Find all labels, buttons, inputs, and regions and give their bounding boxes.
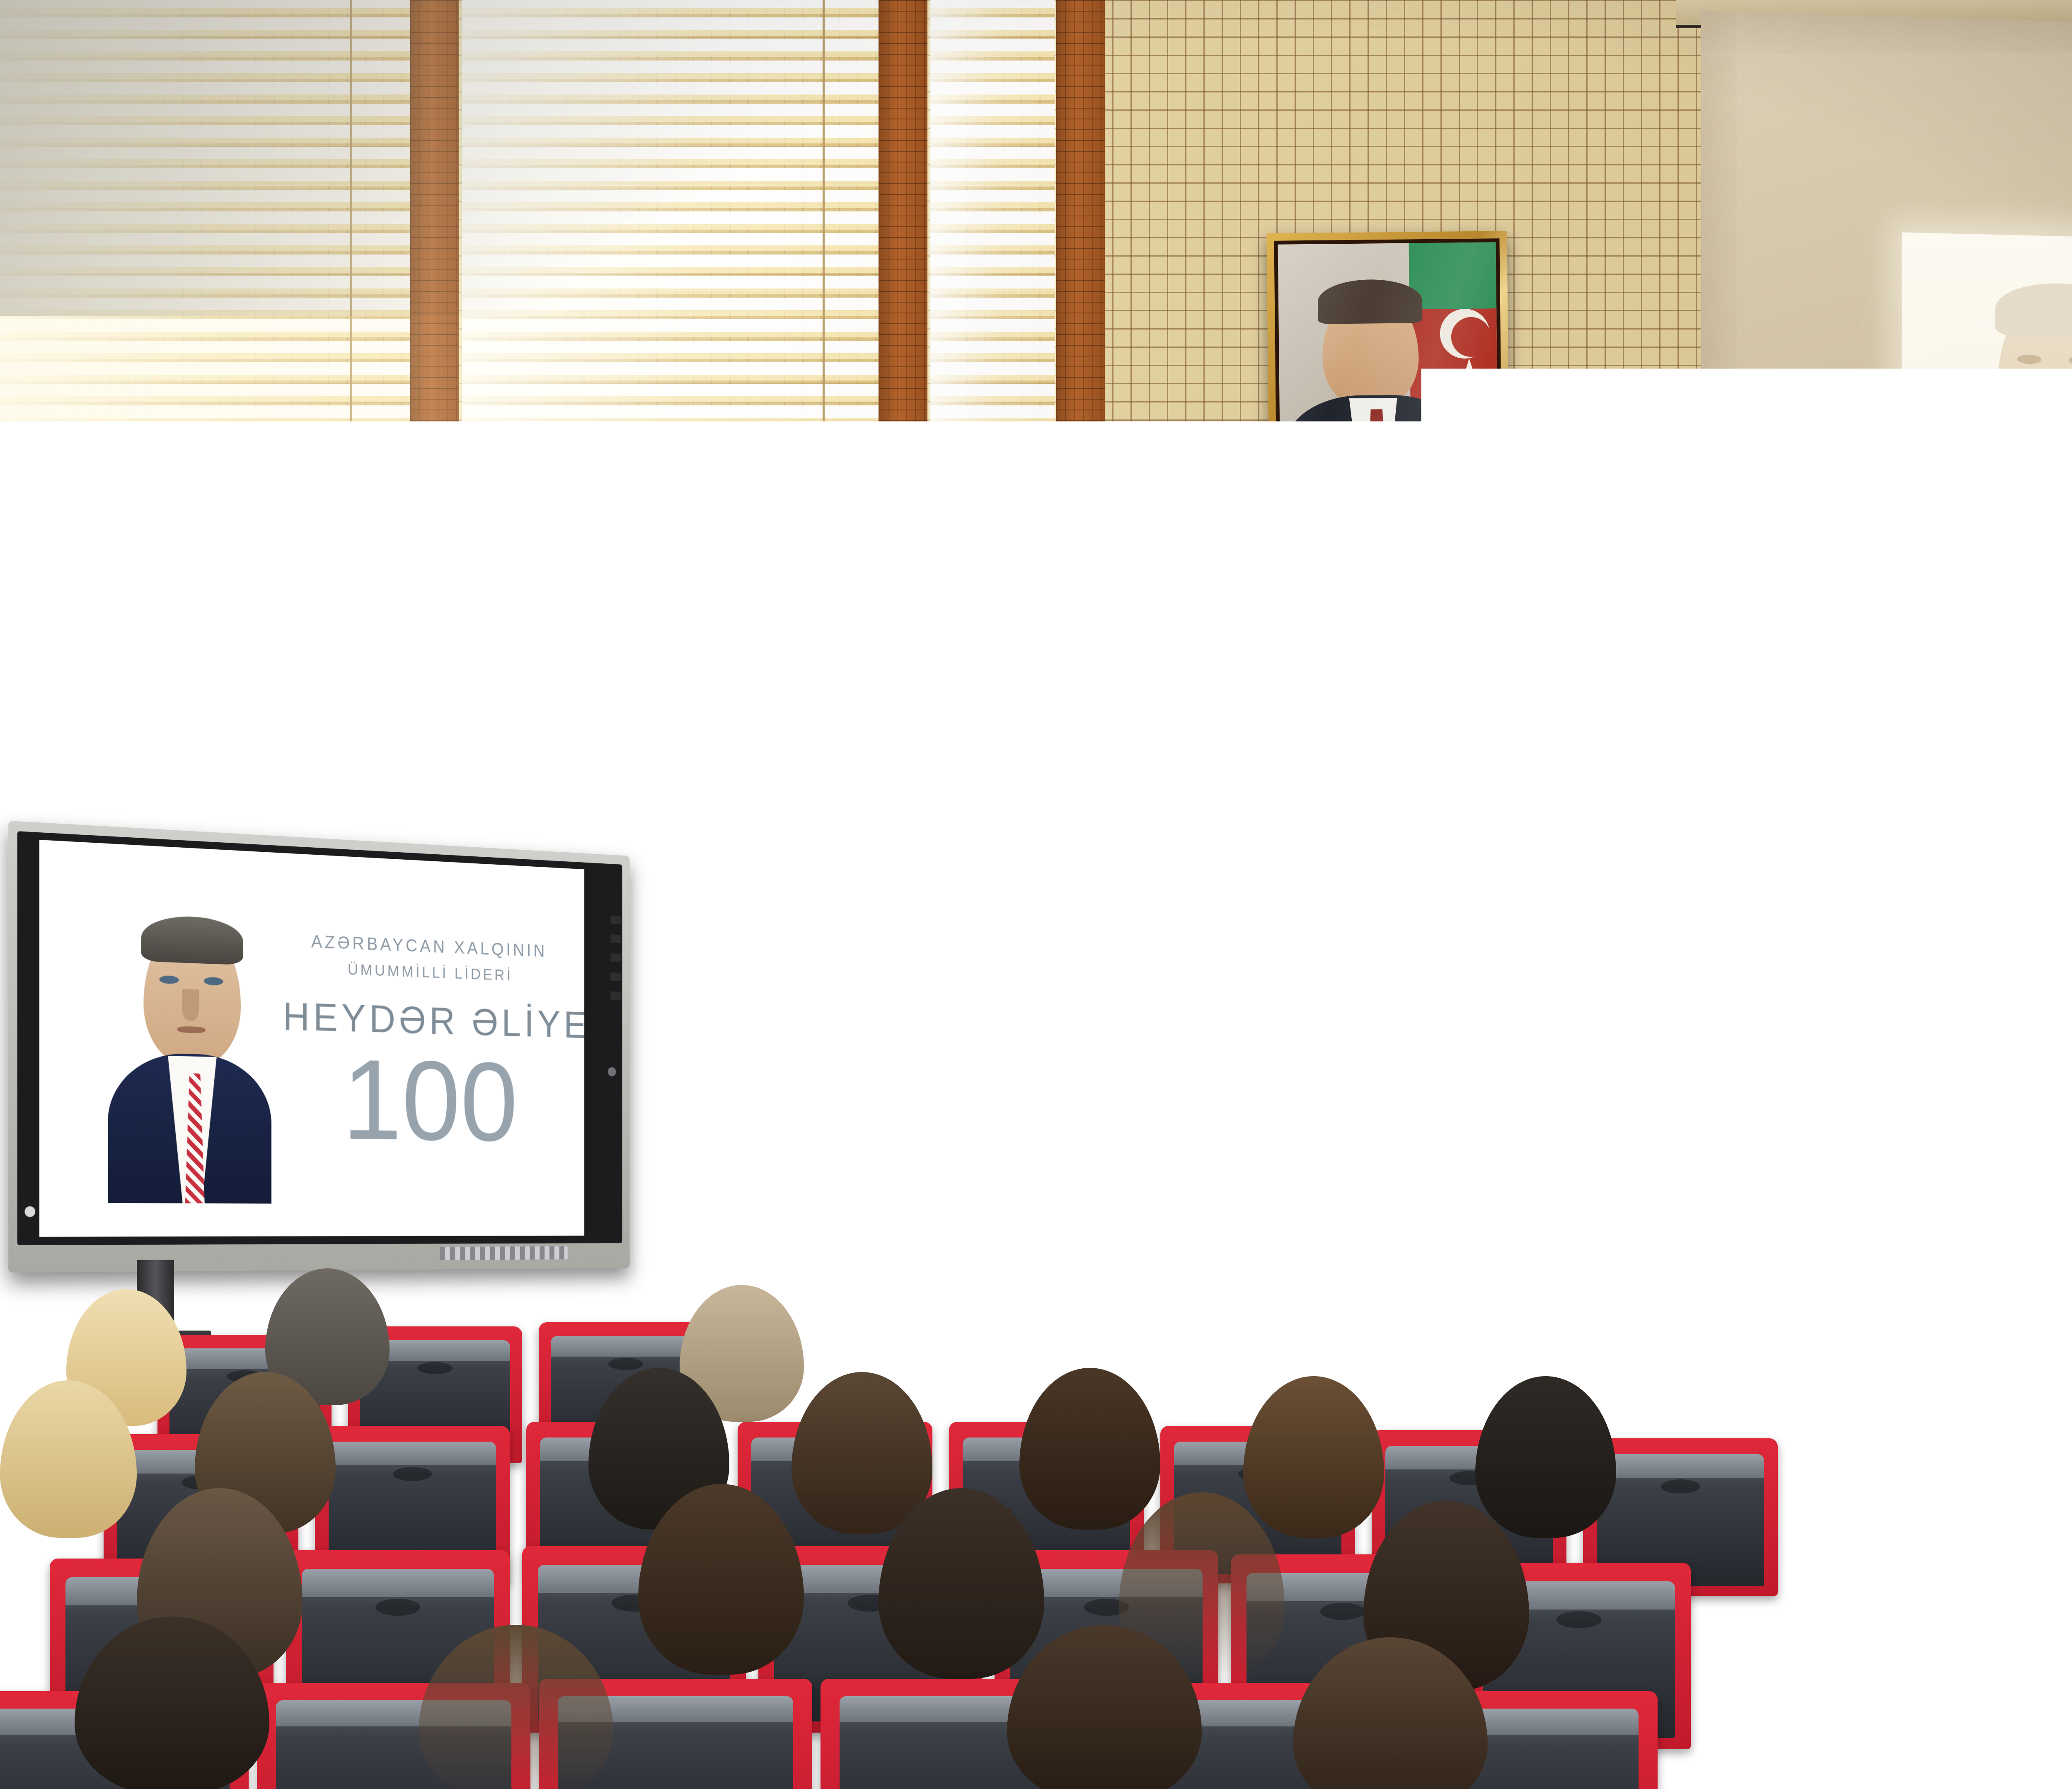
display-screen[interactable]: AZƏRBAYCAN XALQININ ÜMUMMİLLİ LİDERİ HEY… — [39, 840, 584, 1237]
interactive-flat-panel-display[interactable]: AZƏRBAYCAN XALQININ ÜMUMMİLLİ LİDERİ HEY… — [8, 821, 630, 1273]
display-button-3[interactable] — [610, 953, 621, 962]
podium-plaque-left-text: BAKI DÖVLƏT UNİVERSİTETİ — [1217, 1127, 1320, 1198]
azerbaijan-state-emblem — [1320, 1110, 1397, 1214]
audience-head — [792, 1372, 932, 1534]
plaque-left-line-1: BAKI — [1217, 1127, 1320, 1152]
podium-plaque-right-text: BAKU STATE UNIVERSITY — [1397, 1127, 1501, 1198]
presidium-chair-1[interactable] — [1558, 1119, 1716, 1210]
audience-member-green-shirt — [0, 1438, 75, 1563]
plaque-right-line-1: BAKU — [1397, 1127, 1501, 1152]
display-status-led — [25, 1206, 36, 1217]
display-portrait-nose — [182, 989, 199, 1021]
drinking-glass[interactable] — [1119, 1132, 1155, 1181]
framed-portrait-heydar-aliyev — [1266, 231, 1510, 532]
presidium-chair-2[interactable] — [1973, 1115, 2072, 1210]
display-slide-kicker-line-2: ÜMUMMİLLİ LİDERİ — [283, 959, 573, 987]
display-slide-anniversary: 100 — [283, 1047, 573, 1152]
display-speaker-grille — [440, 1246, 567, 1260]
display-button-1[interactable] — [610, 916, 621, 924]
power-cord — [819, 1226, 823, 1297]
flag-pole-azerbaijan — [1198, 541, 1204, 599]
display-slide-portrait — [108, 917, 271, 1203]
portrait-glass-glare — [1278, 242, 1499, 520]
podium-top-edge — [1169, 1049, 1550, 1066]
water-bottle-label-1 — [2028, 1161, 2054, 1191]
portrait-canvas — [1274, 238, 1502, 524]
display-slide-kicker-line-1: AZƏRBAYCAN XALQININ — [283, 931, 573, 962]
display-portrait-hair — [141, 914, 243, 965]
wall-power-outlet[interactable] — [806, 1190, 838, 1227]
display-button-5[interactable] — [610, 991, 621, 1000]
projected-slide: AZƏRBAYCAN XALQININ ÜMUMMİLLİ LİDERİ HEY… — [1902, 232, 2072, 692]
presidium-bench-top — [1011, 1202, 1840, 1235]
projected-portrait-hair — [1995, 282, 2072, 339]
projected-slide-portrait — [1952, 283, 2072, 637]
display-button-2[interactable] — [610, 934, 621, 943]
plaque-right-line-2: STATE — [1397, 1152, 1501, 1177]
flag-pole-bsu — [1355, 526, 1362, 578]
plaque-right-line-3: UNIVERSITY — [1397, 1177, 1501, 1198]
microphone-stem — [1341, 966, 1351, 1061]
display-power-indicator — [608, 1067, 616, 1076]
wall-highlight-1 — [1898, 1086, 1913, 1101]
water-bottle-cap-1[interactable] — [2031, 1106, 2052, 1119]
conference-hall-photo: AZƏRBAYCAN XALQININ ÜMUMMİLLİ LİDERİ HEY… — [0, 0, 2072, 1789]
plaque-left-line-2: DÖVLƏT — [1217, 1152, 1320, 1177]
plaque-left-line-3: UNİVERSİTETİ — [1217, 1177, 1320, 1198]
display-button-4[interactable] — [610, 972, 621, 981]
